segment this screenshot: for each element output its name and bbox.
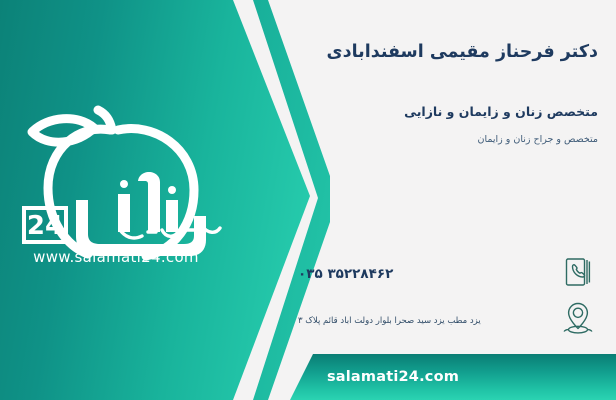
address-row[interactable]: یزد مطب یزد سید صحرا بلوار دولت اباد قائ… [298,296,598,340]
phone-book-icon [558,250,598,294]
card-details: دکتر فرحناز مقیمی اسفندابادی متخصص زنان … [298,0,598,400]
logo-url: www.salamati24.com [16,248,216,266]
logo-badge-24: 24 [24,208,66,242]
address-value-wrap: یزد مطب یزد سید صحرا بلوار دولت اباد قائ… [298,308,558,328]
map-pin-icon [558,296,598,340]
address-text: یزد مطب یزد سید صحرا بلوار دولت اباد قائ… [298,316,481,326]
phone-value-wrap: ۳۵۲۲۸۴۶۲ ۰۳۵ [298,263,558,282]
doctor-specialty-sub: متخصص و جراح زنان و زایمان [298,134,598,145]
footer-url[interactable]: salamati24.com [327,369,459,385]
business-card: 24 www.salamati24.com دکتر فرحناز مقیمی … [0,0,616,400]
phone-number: ۳۵۲۲۸۴۶۲ ۰۳۵ [298,266,393,282]
doctor-name: دکتر فرحناز مقیمی اسفندابادی [298,40,598,65]
svg-text:24: 24 [27,211,63,241]
phone-row[interactable]: ۳۵۲۲۸۴۶۲ ۰۳۵ [298,250,598,294]
doctor-specialty: متخصص زنان و زایمان و نازایی [298,104,598,119]
